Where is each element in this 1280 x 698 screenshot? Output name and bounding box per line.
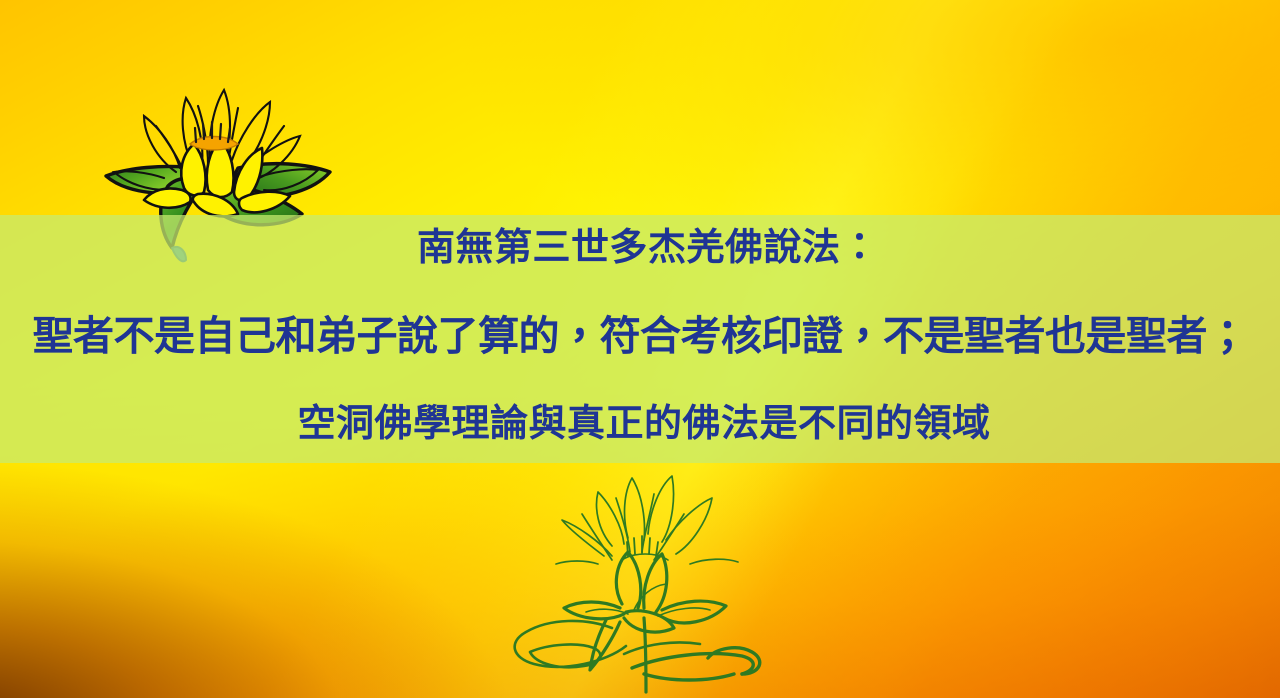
dharma-title-line: 南無第三世多杰羌佛說法： bbox=[0, 229, 1280, 269]
lotus-outline-icon bbox=[494, 468, 804, 698]
dharma-banner: 南無第三世多杰羌佛說法： 聖者不是自己和弟子說了算的，符合考核印證，不是聖者也是… bbox=[0, 0, 1280, 698]
dharma-body-line-2: 空洞佛學理論與真正的佛法是不同的領域 bbox=[0, 405, 1280, 445]
dharma-body-line-1: 聖者不是自己和弟子說了算的，符合考核印證，不是聖者也是聖者； bbox=[0, 315, 1280, 358]
text-band: 南無第三世多杰羌佛說法： 聖者不是自己和弟子說了算的，符合考核印證，不是聖者也是… bbox=[0, 215, 1280, 463]
